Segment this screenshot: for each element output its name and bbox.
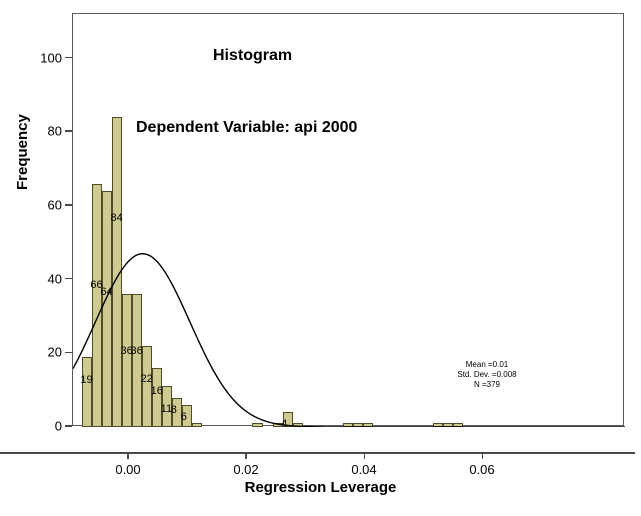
x-tick-label-2: 0.04 — [351, 462, 376, 477]
x-tick-mark-0 — [127, 452, 129, 459]
bar-value-label: 36 — [131, 346, 143, 357]
bar-value-label: 8 — [171, 405, 177, 416]
stats-mean: Mean =0.01 — [432, 360, 542, 370]
bar-value-label: 6 — [181, 412, 187, 423]
bar-value-label: 19 — [80, 375, 92, 386]
y-tick-label-80: 80 — [48, 124, 62, 139]
bar-value-label: 84 — [110, 213, 122, 224]
y-tick-mark-60 — [65, 204, 72, 206]
y-tick-mark-80 — [65, 130, 72, 132]
y-tick-mark-40 — [65, 278, 72, 280]
y-axis: 0 20 40 60 80 100 — [0, 0, 72, 440]
stats-n: N =379 — [432, 380, 542, 390]
y-tick-mark-20 — [65, 352, 72, 354]
x-tick-mark-3 — [482, 452, 484, 459]
x-tick-mark-1 — [245, 452, 247, 459]
y-tick-mark-0 — [65, 425, 72, 427]
bar-value-label: 64 — [100, 287, 112, 298]
stats-annotation: Mean =0.01 Std. Dev. =0.008 N =379 — [432, 360, 542, 390]
y-tick-label-0: 0 — [55, 419, 62, 434]
y-tick-label-40: 40 — [48, 271, 62, 286]
y-axis-title: Frequency — [14, 114, 31, 190]
y-tick-mark-100 — [65, 57, 72, 59]
x-axis-title: Regression Leverage — [0, 479, 641, 496]
stats-std-dev: Std. Dev. =0.008 — [432, 370, 542, 380]
chart-subtitle: Dependent Variable: api 2000 — [136, 119, 357, 137]
x-axis-line — [0, 452, 635, 454]
x-tick-label-3: 0.06 — [469, 462, 494, 477]
y-tick-label-60: 60 — [48, 197, 62, 212]
y-tick-label-20: 20 — [48, 345, 62, 360]
x-tick-label-1: 0.02 — [233, 462, 258, 477]
chart-title: Histogram — [213, 47, 292, 65]
bar-value-label: 4 — [281, 419, 287, 430]
x-tick-label-0: 0.00 — [115, 462, 140, 477]
bar-value-label: 16 — [151, 386, 163, 397]
y-tick-label-100: 100 — [40, 50, 62, 65]
bar-value-label: 22 — [141, 374, 153, 385]
x-tick-mark-2 — [364, 452, 366, 459]
histogram-chart: 0 20 40 60 80 100 Frequency 196664843636… — [0, 0, 641, 516]
